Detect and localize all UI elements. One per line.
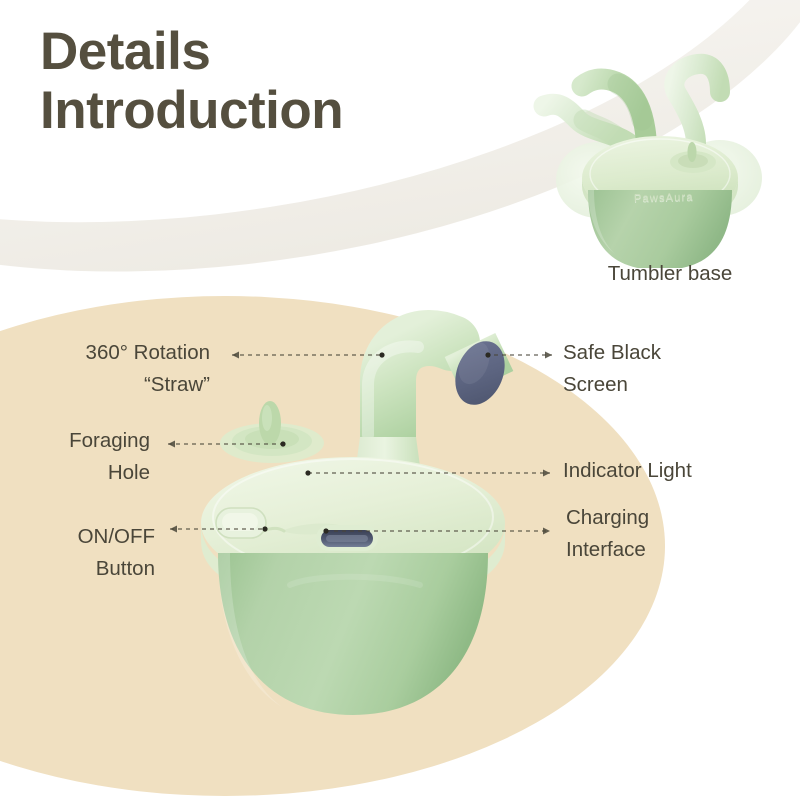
tumbler-straw-right	[674, 64, 720, 144]
product-body	[218, 553, 488, 715]
charging-interface	[316, 525, 378, 551]
leader-line-foraging-hole	[158, 434, 293, 454]
callout-foraging-hole: Foraging Hole	[10, 425, 150, 489]
page-title: Details Introduction	[40, 22, 470, 141]
tumbler-brand-label: PawsAura	[634, 191, 694, 205]
callout-rotation-straw: 360° Rotation “Straw”	[10, 337, 210, 401]
main-product-image	[170, 285, 540, 730]
leader-line-rotation-straw	[222, 345, 392, 365]
on-off-button	[216, 508, 266, 538]
tumbler-base-product-image	[520, 28, 800, 268]
tumbler-wing-right	[678, 140, 762, 216]
tumbler-body	[588, 190, 732, 268]
tumbler-base-caption: Tumbler base	[565, 258, 775, 290]
rotation-straw-arm	[368, 334, 514, 445]
safe-black-screen-disc	[446, 334, 513, 412]
tumbler-straw-middle	[582, 79, 646, 138]
indicator-light	[256, 524, 346, 535]
tumbler-wing-left	[556, 142, 640, 218]
callout-indicator-light: Indicator Light	[563, 455, 793, 487]
callout-on-off-button: ON/OFF Button	[10, 521, 155, 585]
leader-line-charging-interface	[318, 521, 560, 541]
leader-line-on-off-button	[160, 519, 275, 539]
leader-line-safe-black-screen	[482, 345, 562, 365]
product-detail-infographic: Details Introduction	[0, 0, 800, 800]
callout-safe-black-screen: Safe Black Screen	[563, 337, 793, 401]
foraging-hole	[220, 401, 324, 463]
tumbler-lid	[582, 136, 738, 220]
product-neck	[354, 437, 422, 481]
callout-charging-interface: Charging Interface	[566, 502, 796, 566]
tumbler-straw-left	[544, 104, 632, 146]
tumbler-foraging-hole	[670, 142, 716, 173]
leader-line-indicator-light	[300, 463, 560, 483]
product-lid	[201, 457, 505, 589]
